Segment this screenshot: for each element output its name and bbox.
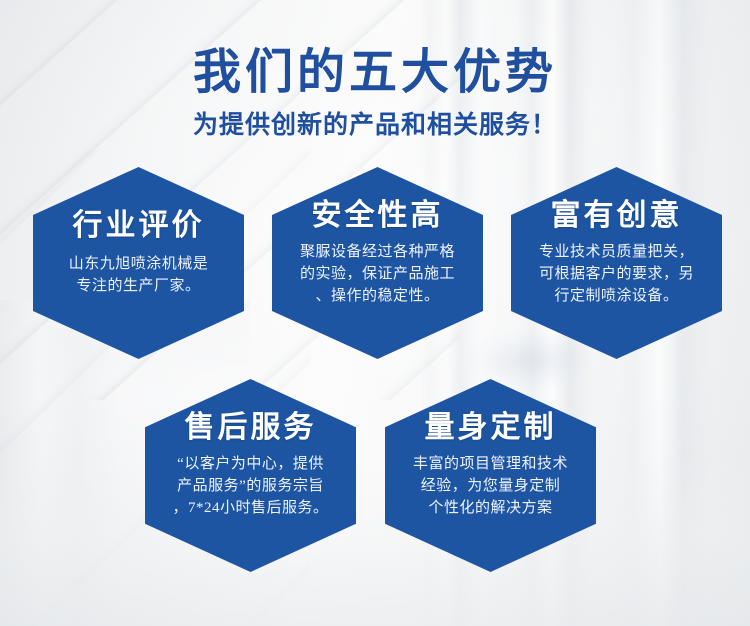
advantage-card-1-title: 行业评价 [33,167,244,243]
advantage-card-2-description: 聚脲设备经过各种严格 的实验，保证产品施工 、操作的稳定性。 [272,233,483,307]
advantage-card-5-title: 量身定制 [385,379,596,445]
advantage-card-5: 量身定制 丰富的项目管理和技术 经验，为您量身定制 个性化的解决方案 [385,379,596,572]
advantage-card-3: 富有创意 专业技术员质量把关， 可根据客户的要求，另 行定制喷涂设备。 [511,167,722,359]
advantage-card-1-description: 山东九旭喷涂机械是 专注的生产厂家。 [33,243,244,297]
advantage-card-2: 安全性高 聚脲设备经过各种严格 的实验，保证产品施工 、操作的稳定性。 [272,167,483,359]
advantage-card-2-title: 安全性高 [272,167,483,233]
page-subtitle: 为提供创新的产品和相关服务！ [0,102,750,142]
advantage-card-4: 售后服务 “以客户为中心，提供 产品服务”的服务宗旨 ，7*24小时售后服务。 [145,379,356,572]
advantage-card-4-title: 售后服务 [145,379,356,445]
advantage-card-3-title: 富有创意 [511,167,722,233]
advantage-card-4-description: “以客户为中心，提供 产品服务”的服务宗旨 ，7*24小时售后服务。 [145,445,356,519]
advantage-card-3-description: 专业技术员质量把关， 可根据客户的要求，另 行定制喷涂设备。 [511,233,722,307]
page-title: 我们的五大优势 [0,0,750,102]
advantage-card-1: 行业评价 山东九旭喷涂机械是 专注的生产厂家。 [33,167,244,359]
advantage-card-5-description: 丰富的项目管理和技术 经验，为您量身定制 个性化的解决方案 [385,445,596,519]
advantages-banner: 我们的五大优势 为提供创新的产品和相关服务！ 行业评价 山东九旭喷涂机械是 专注… [0,0,750,626]
banner-heading: 我们的五大优势 为提供创新的产品和相关服务！ [0,0,750,142]
